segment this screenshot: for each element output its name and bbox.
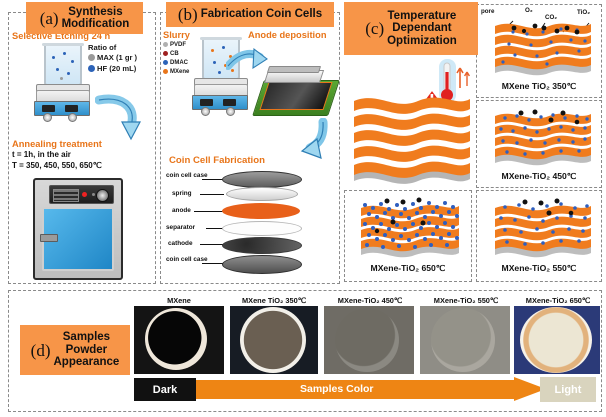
panel-d-title: Samples Powder Appearance: [53, 331, 119, 368]
tile-mxene-tio2-650: MXene-TiO₂ 650℃: [344, 190, 472, 282]
hotplate-knob-right[interactable]: [68, 113, 77, 122]
coin-cell-fabrication-title: Coin Cell Fabrication: [169, 155, 265, 166]
tile-550-stack: [491, 197, 595, 261]
tile-450-caption: MXene-TiO₂ 450℃: [477, 171, 601, 182]
panel-c-header: (c) Temperature Dependant Optimization: [344, 2, 478, 55]
hotplate-knob-left[interactable]: [43, 113, 52, 122]
oven-handle[interactable]: [40, 234, 58, 242]
tile-650-caption: MXene-TiO₂ 650℃: [345, 263, 471, 274]
sample-photo-3: [420, 306, 510, 374]
oven-dial[interactable]: [96, 189, 109, 202]
legend-item-cb: CB: [163, 50, 189, 59]
panel-c-tag: (c): [365, 20, 387, 37]
flow-arrow-b2: [290, 118, 332, 166]
tile-mxene-tio2-450: MXene-TiO₂ 450℃: [476, 100, 602, 188]
slurry-label: Slurry: [163, 30, 190, 40]
coin-layer-label-cathode: cathode: [168, 240, 193, 247]
figure-root: (a) Synthesis Modification Selective Etc…: [0, 0, 606, 417]
tile-350-caption: MXene TiO₂ 350℃: [477, 81, 601, 92]
callout-pore: pore: [481, 8, 494, 15]
ratio-item-hf: HF (20 mL): [88, 64, 137, 74]
sample-caption-1: MXene TiO₂ 350℃: [228, 296, 320, 305]
cb-dot: [163, 51, 168, 56]
tile-650-stack: [357, 197, 463, 261]
legend-item-dmac: DMAC: [163, 59, 189, 68]
slurry-knob-right[interactable]: [226, 107, 235, 116]
scale-light-label: Light: [540, 377, 596, 402]
annealing-temps: T = 350, 450, 550, 650℃: [12, 161, 152, 171]
legend-item-pvdf: PVDF: [163, 41, 189, 50]
sample-caption-2: MXene-TiO₂ 450℃: [322, 296, 418, 305]
panel-d-header: (d) Samples Powder Appearance: [20, 325, 130, 375]
tile-350-stack: [491, 15, 595, 81]
annealing-block: Annealing treatment t = 1h, in the air T…: [12, 139, 152, 172]
tile-mxene-tio2-350: pore O₂ CO₂ TiO₂: [476, 4, 602, 98]
mxene-dot: [163, 69, 168, 74]
scale-dark-label: Dark: [134, 378, 196, 401]
furnace-oven: [33, 178, 123, 280]
film-coater-illustration: [252, 58, 338, 120]
tile-550-caption: MXene-TiO₂ 550℃: [477, 263, 601, 274]
sample-photo-4: [514, 306, 600, 374]
panel-b-header: (b) Fabrication Coin Cells: [166, 2, 334, 27]
tile-mxene-tio2-550: MXene-TiO₂ 550℃: [476, 190, 602, 282]
coin-layer-separator: [222, 221, 302, 236]
anode-deposition-label: Anode deposition: [248, 30, 327, 40]
coin-cell-exploded-diagram: coin cell case spring anode separator ca…: [164, 170, 336, 278]
oven-control-panel: [49, 185, 114, 204]
coin-layer-label-separator: separator: [166, 224, 195, 231]
ratio-item-max: MAX (1 gr ): [88, 53, 137, 63]
mxene-stack-illustration: [348, 95, 476, 197]
panel-d-tag: (d): [31, 342, 54, 359]
oven-door[interactable]: [42, 207, 114, 271]
etching-stirrer-illustration: [32, 44, 94, 122]
slurry-legend: PVDF CB DMAC MXene: [163, 41, 189, 77]
coin-layer-spring: [226, 187, 298, 201]
coin-layer-label-case-top: coin cell case: [166, 172, 208, 179]
coin-layer-case-top: [222, 171, 302, 188]
hotplate-front-panel: [34, 101, 90, 116]
panel-a-header: (a) Synthesis Modification: [26, 2, 143, 34]
coin-layer-case-bottom: [222, 255, 302, 274]
annealing-label: Annealing treatment: [12, 139, 152, 149]
annealing-time: t = 1h, in the air: [12, 150, 152, 160]
callout-o2: O₂: [525, 7, 533, 14]
sample-caption-3: MXene-TiO₂ 550℃: [418, 296, 514, 305]
scale-center-label: Samples Color: [300, 383, 374, 395]
coin-layer-anode: [222, 203, 300, 219]
slurry-knob-left[interactable]: [201, 107, 210, 116]
panel-b-title: Fabrication Coin Cells: [201, 8, 322, 20]
sample-caption-4: MXene-TiO₂ 650℃: [512, 296, 604, 305]
sample-caption-0: MXene: [134, 296, 224, 305]
panel-b-tag: (b): [178, 6, 201, 23]
ratio-title: Ratio of: [88, 43, 137, 53]
sample-photo-2: [324, 306, 414, 374]
coin-layer-cathode: [222, 237, 302, 254]
dmac-dot: [163, 60, 168, 65]
slurry-hotplate-front-panel: [192, 95, 248, 110]
sample-photo-1: [230, 306, 318, 374]
beaker: [44, 46, 82, 86]
panel-a-tag: (a): [40, 10, 62, 27]
panel-c-title: Temperature Dependant Optimization: [387, 10, 457, 47]
coin-layer-label-anode: anode: [172, 207, 191, 214]
oven-led-small: [92, 193, 95, 196]
ratio-legend: Ratio of MAX (1 gr ) HF (20 mL): [88, 43, 137, 74]
sample-photo-0: [134, 306, 224, 374]
flow-arrow-a: [95, 92, 143, 142]
oven-led-red: [82, 192, 87, 197]
coin-layer-label-spring: spring: [172, 190, 192, 197]
legend-item-mxene: MXene: [163, 68, 189, 77]
coin-layer-label-case-bottom: coin cell case: [166, 256, 208, 263]
coater-film: [259, 82, 332, 110]
oven-display: [53, 189, 79, 202]
tile-450-stack: [491, 107, 595, 169]
panel-a-title: Synthesis Modification: [62, 6, 130, 31]
pvdf-dot: [163, 42, 168, 47]
